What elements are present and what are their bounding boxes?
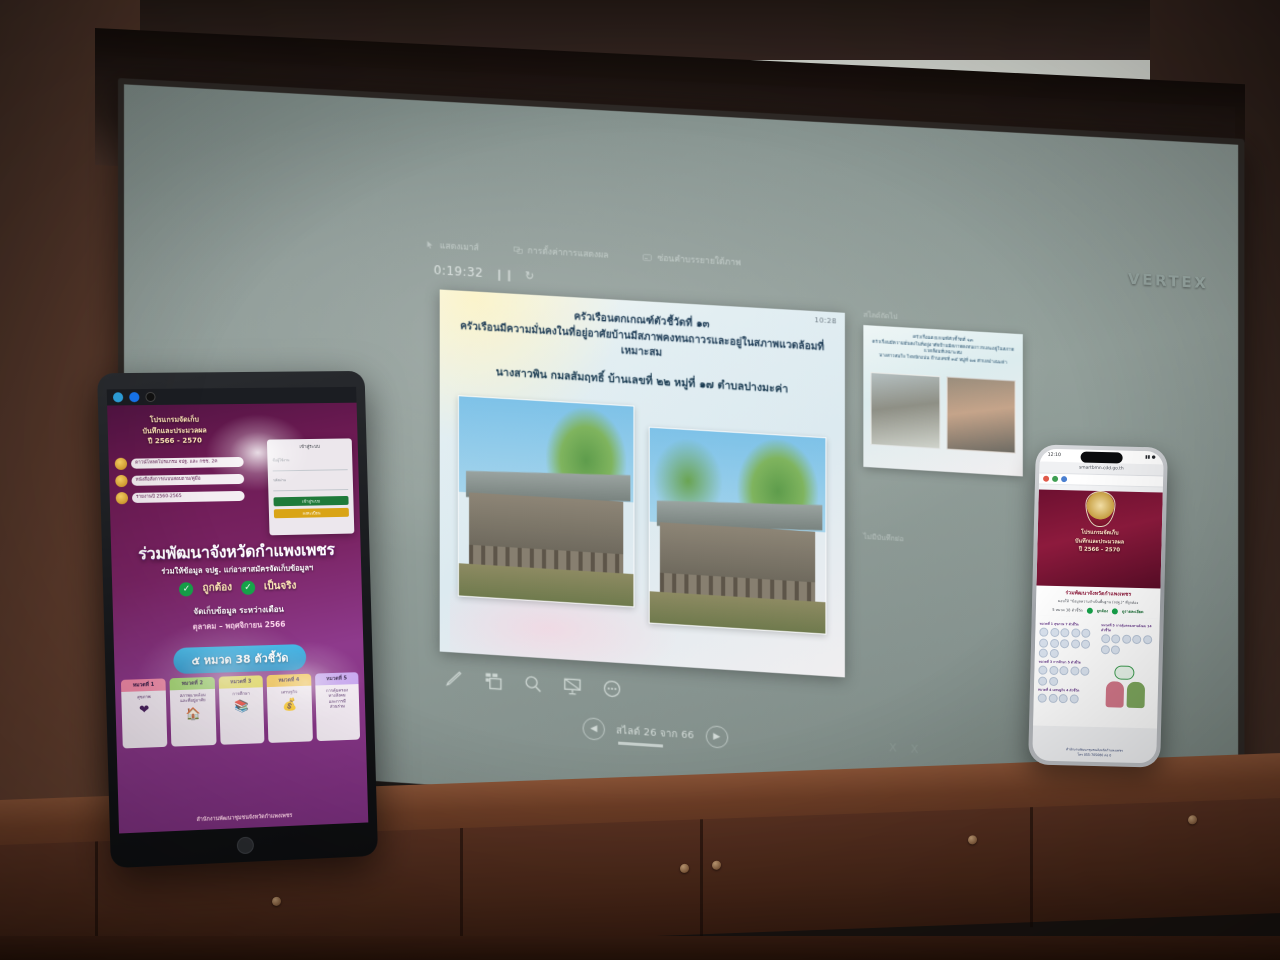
chevron-right-icon[interactable]: ▶	[705, 725, 727, 749]
category-card-2[interactable]: หมวดที่ 2 สภาพแวดล้อม และที่อยู่อาศัย 🏠	[170, 677, 217, 747]
indicator-icon[interactable]	[1111, 634, 1120, 643]
list-item[interactable]: หนังสือสั่งการ/แบบสอบถาม/คู่มือ	[115, 473, 244, 487]
category-body: เศรษฐกิจ 💰	[267, 686, 312, 743]
tiktok-icon[interactable]	[145, 392, 155, 402]
indicator-icon[interactable]	[1080, 667, 1089, 676]
presenter-toolbar[interactable]: แสดงเมาส์ การตั้งค่าการแสดงผล	[426, 226, 1059, 298]
telegram-icon[interactable]	[113, 392, 123, 402]
indicator-icon[interactable]	[1049, 666, 1058, 675]
chevron-left-icon[interactable]: ◀	[583, 717, 605, 741]
list-item[interactable]: ดาวน์โหลดโปรแกรม จปฐ. และ กชช. 2ค	[115, 456, 244, 470]
more-icon[interactable]	[602, 678, 622, 699]
next-photo-left	[871, 372, 940, 449]
indicator-icon[interactable]	[1081, 639, 1090, 648]
powerpoint-presenter-view[interactable]: แสดงเมาส์ การตั้งค่าการแสดงผล	[426, 226, 1059, 800]
category-label: สภาพแวดล้อม และที่อยู่อาศัย	[180, 692, 206, 703]
pause-icon[interactable]: ❙❙	[494, 267, 513, 281]
category-card-1[interactable]: หมวดที่ 1 สุขภาพ ❤	[121, 678, 168, 748]
bullet-number-icon	[116, 492, 129, 504]
subtitle-icon	[643, 252, 652, 262]
password-input[interactable]	[273, 483, 348, 491]
screen-watermark: X X	[889, 741, 923, 756]
category-card-3[interactable]: หมวดที่ 3 การศึกษา 📚	[218, 675, 264, 745]
indicator-icon[interactable]	[1143, 635, 1152, 644]
bullet-label: หนังสือสั่งการ/แบบสอบถาม/คู่มือ	[131, 474, 244, 486]
indicator-icon[interactable]	[1039, 649, 1048, 658]
next-slide-photos	[871, 372, 1016, 454]
bullet-number-icon	[115, 475, 128, 487]
category-body: สภาพแวดล้อม และที่อยู่อาศัย 🏠	[170, 689, 216, 747]
indicator-icon[interactable]	[1049, 649, 1058, 658]
toolbar-item-subtitles[interactable]: ซ่อนคำบรรยายใต้ภาพ	[643, 250, 741, 270]
check-label-2: เป็นจริง	[264, 579, 297, 595]
toolbar-label-display: การตั้งค่าการแสดงผล	[528, 243, 609, 262]
indicator-icon[interactable]	[1060, 628, 1069, 637]
pen-icon[interactable]	[444, 668, 464, 689]
facebook-icon[interactable]	[129, 392, 139, 402]
indicator-icon[interactable]	[1049, 638, 1058, 647]
indicator-icon[interactable]	[1048, 693, 1057, 702]
slide-photo-group	[458, 395, 827, 650]
tab-dot[interactable]	[1043, 476, 1049, 482]
house-icon: 🏠	[173, 706, 214, 723]
cabinet-divider	[700, 819, 703, 939]
cabinet-knob[interactable]	[272, 897, 281, 906]
slide-photo-right	[649, 427, 827, 635]
phone-icon-row[interactable]	[1038, 693, 1097, 703]
toolbar-item-display[interactable]: การตั้งค่าการแสดงผล	[513, 242, 608, 262]
tablet-social-bar[interactable]	[107, 387, 357, 406]
check-icon	[1087, 607, 1093, 613]
phone-check-label-2: ดูรายละเอียด	[1122, 608, 1144, 615]
indicator-icon[interactable]	[1122, 635, 1131, 644]
indicator-icon[interactable]	[1070, 666, 1079, 675]
slide-counter: สไลด์ 26 จาก 66	[616, 723, 694, 743]
toolbar-label-subtitles: ซ่อนคำบรรยายใต้ภาพ	[657, 251, 741, 270]
restart-icon[interactable]: ↻	[525, 269, 535, 283]
presenter-side-pane: สไลด์ถัดไป ครัวเรือนตกเกณฑ์ตัวชี้วัดที่ …	[863, 310, 1048, 554]
list-item[interactable]: รายงานปี 2560-2565	[116, 490, 245, 504]
login-title: เข้าสู่ระบบ	[272, 443, 347, 451]
indicator-icon[interactable]	[1101, 645, 1110, 654]
indicator-icon[interactable]	[1038, 666, 1047, 675]
phone-hero-title: โปรแกรมจัดเก็บ บันทึกและประมวลผล ปี 2566…	[1037, 528, 1162, 557]
tablet-category-row: หมวดที่ 1 สุขภาพ ❤ หมวดที่ 2 สภาพแวดล้อม…	[121, 672, 360, 748]
cabinet-knob[interactable]	[968, 835, 977, 844]
current-slide[interactable]: 10:28 ครัวเรือนตกเกณฑ์ตัวชี้วัดที่ ๑๓ คร…	[440, 290, 845, 678]
slide-photo-left	[458, 395, 635, 607]
photo-wall	[469, 492, 623, 553]
presenter-tools[interactable]	[444, 668, 623, 700]
tab-dot[interactable]	[1052, 476, 1058, 482]
speaker-notes-placeholder: ไม่มีบันทึกย่อ	[863, 532, 1048, 555]
pointer-icon	[426, 240, 435, 250]
check-icon: ✓	[179, 582, 193, 596]
indicator-icon[interactable]	[1101, 634, 1110, 643]
category-body: สุขภาพ ❤	[121, 690, 168, 748]
browser-tab-strip[interactable]	[1039, 474, 1163, 488]
next-slide-thumbnail[interactable]: ครัวเรือนตกเกณฑ์ตัวชี้วัดที่ ๑๓ ครัวเรือ…	[863, 325, 1022, 476]
status-icons: ▮▮ ●	[1145, 455, 1156, 460]
check-icon	[1112, 608, 1118, 614]
username-label: ชื่อผู้ใช้งาน	[272, 456, 347, 463]
indicator-icon[interactable]	[1049, 676, 1058, 685]
indicator-icon[interactable]	[1132, 635, 1141, 644]
indicator-icon[interactable]	[1039, 628, 1048, 637]
indicator-icon[interactable]	[1039, 638, 1048, 647]
next-photo-right	[946, 376, 1016, 453]
indicator-icon[interactable]	[1069, 694, 1078, 703]
phone-icon-row[interactable]	[1039, 628, 1098, 659]
category-body: การศึกษา 📚	[219, 687, 265, 745]
phone-info-band: ร่วมพัฒนาจังหวัดกำแพงเพชร มอบให้ "ข้อมูล…	[1036, 585, 1161, 618]
phone-screen[interactable]: 12:10 ▮▮ ● smartbmn.cdd.go.th โปรแกรมจัด…	[1032, 449, 1164, 764]
coin-icon: 💰	[269, 697, 309, 714]
bullet-label: ดาวน์โหลดโปรแกรม จปฐ. และ กชช. 2ค	[131, 457, 244, 469]
status-time: 12:10	[1048, 453, 1061, 458]
login-submit-button[interactable]: เข้าสู่ระบบ	[273, 496, 348, 506]
category-card-5[interactable]: หมวดที่ 5 การคุ้มครอง ทางสังคม และการมี …	[315, 672, 360, 741]
phone-grid-left: หมวดที่ 1 สุขภาพ 7 ตัวชี้วัด	[1037, 620, 1098, 723]
person-figure	[1105, 681, 1124, 707]
phone-icon-row[interactable]	[1101, 634, 1156, 655]
tab-dot[interactable]	[1061, 476, 1067, 482]
indicator-icon[interactable]	[1059, 666, 1068, 675]
indicator-icon[interactable]	[1071, 628, 1080, 637]
indicator-icon[interactable]	[1060, 639, 1069, 648]
slide-navigation[interactable]: ◀ สไลด์ 26 จาก 66 ▶	[583, 717, 728, 749]
zoom-icon[interactable]	[523, 673, 543, 694]
display-icon	[513, 245, 522, 255]
conference-room-scene: แสดงเมาส์ การตั้งค่าการแสดงผล	[0, 0, 1280, 960]
category-body: การคุ้มครอง ทางสังคม และการมี ส่วนร่วม	[315, 684, 360, 741]
tablet-hero-title: โปรแกรมจัดเก็บ บันทึกและประมวลผล ปี 2566…	[114, 414, 236, 447]
check-label-1: ถูกต้อง	[202, 580, 232, 596]
phone-footer: สำนักงานพัฒนาชุมชนจังหวัดกำแพงเพชร โทร 0…	[1032, 747, 1156, 760]
speech-bubble-icon	[1114, 665, 1134, 679]
phone-indicator-grid[interactable]: หมวดที่ 1 สุขภาพ 7 ตัวชี้วัด	[1033, 615, 1160, 728]
bullet-label: รายงานปี 2560-2565	[132, 491, 245, 504]
cabinet-divider	[460, 828, 463, 948]
heart-icon: ❤	[124, 702, 165, 719]
phone-dynamic-island	[1081, 452, 1123, 464]
phone-band-note: 5 หมวด 38 ตัวชี้วัด	[1052, 607, 1083, 614]
all-slides-icon[interactable]	[483, 670, 503, 691]
toolbar-item-pointer[interactable]: แสดงเมาส์	[426, 237, 479, 254]
toolbar-label-pointer: แสดงเมาส์	[440, 238, 479, 254]
indicator-icon[interactable]	[1038, 693, 1047, 702]
cabinet-knob[interactable]	[680, 864, 689, 873]
cabinet-divider	[1030, 807, 1033, 927]
tablet-home-button[interactable]	[237, 837, 254, 855]
login-card[interactable]: เข้าสู่ระบบ ชื่อผู้ใช้งาน รหัสผ่าน เข้าส…	[267, 438, 354, 535]
phone-hero-banner: โปรแกรมจัดเก็บ บันทึกและประมวลผล ปี 2566…	[1036, 490, 1162, 589]
indicator-icon[interactable]	[1038, 676, 1047, 685]
indicator-icon[interactable]	[1081, 629, 1090, 638]
phone-grid-right: หมวดที่ 5 การคุ้มครองทางสังคม 14 ตัวชี้ว…	[1099, 621, 1156, 724]
phone-icon-row[interactable]	[1038, 666, 1097, 687]
illustration-people	[1105, 681, 1145, 708]
register-button[interactable]: ลงทะเบียน	[274, 508, 349, 518]
cabinet-knob[interactable]	[1188, 815, 1197, 824]
category-card-4[interactable]: หมวดที่ 4 เศรษฐกิจ 💰	[267, 674, 313, 743]
category-label: การคุ้มครอง ทางสังคม และการมี ส่วนร่วม	[326, 687, 348, 709]
next-slide-heading: ครัวเรือนตกเกณฑ์ตัวชี้วัดที่ ๑๓ ครัวเรือ…	[870, 332, 1017, 367]
category-label: การศึกษา	[232, 691, 250, 697]
address-text: smartbmn.cdd.go.th	[1079, 465, 1124, 471]
tablet-screen[interactable]: โปรแกรมจัดเก็บ บันทึกและประมวลผล ปี 2566…	[107, 387, 369, 834]
indicator-icon[interactable]	[1050, 628, 1059, 637]
education-icon: 📚	[221, 699, 262, 716]
floor-strip	[0, 936, 1280, 960]
check-icon: ✓	[241, 580, 255, 594]
province-crest-icon	[1085, 491, 1116, 528]
tablet-bullet-list[interactable]: ดาวน์โหลดโปรแกรม จปฐ. และ กชช. 2ค หนังสื…	[115, 456, 245, 509]
timer-elapsed: 0:19:32	[434, 263, 484, 280]
phone-check-label-1: ถูกต้อง	[1097, 607, 1108, 613]
indicator-icon[interactable]	[1059, 694, 1068, 703]
tablet-footer: สำนักงานพัฒนาชุมชนจังหวัดกำแพงเพชร	[119, 809, 368, 828]
phone-band-checks: 5 หมวด 38 ตัวชี้วัด ถูกต้อง ดูรายละเอียด	[1040, 606, 1156, 616]
phone-section-title-5: หมวดที่ 5 การคุ้มครองทางสังคม 14 ตัวชี้ว…	[1101, 623, 1155, 634]
tablet-device[interactable]: โปรแกรมจัดเก็บ บันทึกและประมวลผล ปี 2566…	[97, 371, 378, 868]
person-figure	[1126, 682, 1145, 708]
bullet-number-icon	[115, 458, 128, 470]
indicator-icon[interactable]	[1070, 639, 1079, 648]
username-input[interactable]	[273, 463, 348, 471]
tablet-check-row: ✓ ถูกต้อง ✓ เป็นจริง	[112, 577, 362, 598]
cabinet-knob[interactable]	[712, 861, 721, 870]
blank-screen-icon[interactable]	[562, 675, 582, 696]
category-label: สุขภาพ	[137, 694, 151, 699]
indicator-icon[interactable]	[1111, 645, 1120, 654]
smartphone-device[interactable]: 12:10 ▮▮ ● smartbmn.cdd.go.th โปรแกรมจัด…	[1028, 444, 1168, 767]
tablet-indicator-badge: ๕ หมวด 38 ตัวชี้วัด	[173, 644, 306, 674]
category-label: เศรษฐกิจ	[281, 689, 297, 695]
